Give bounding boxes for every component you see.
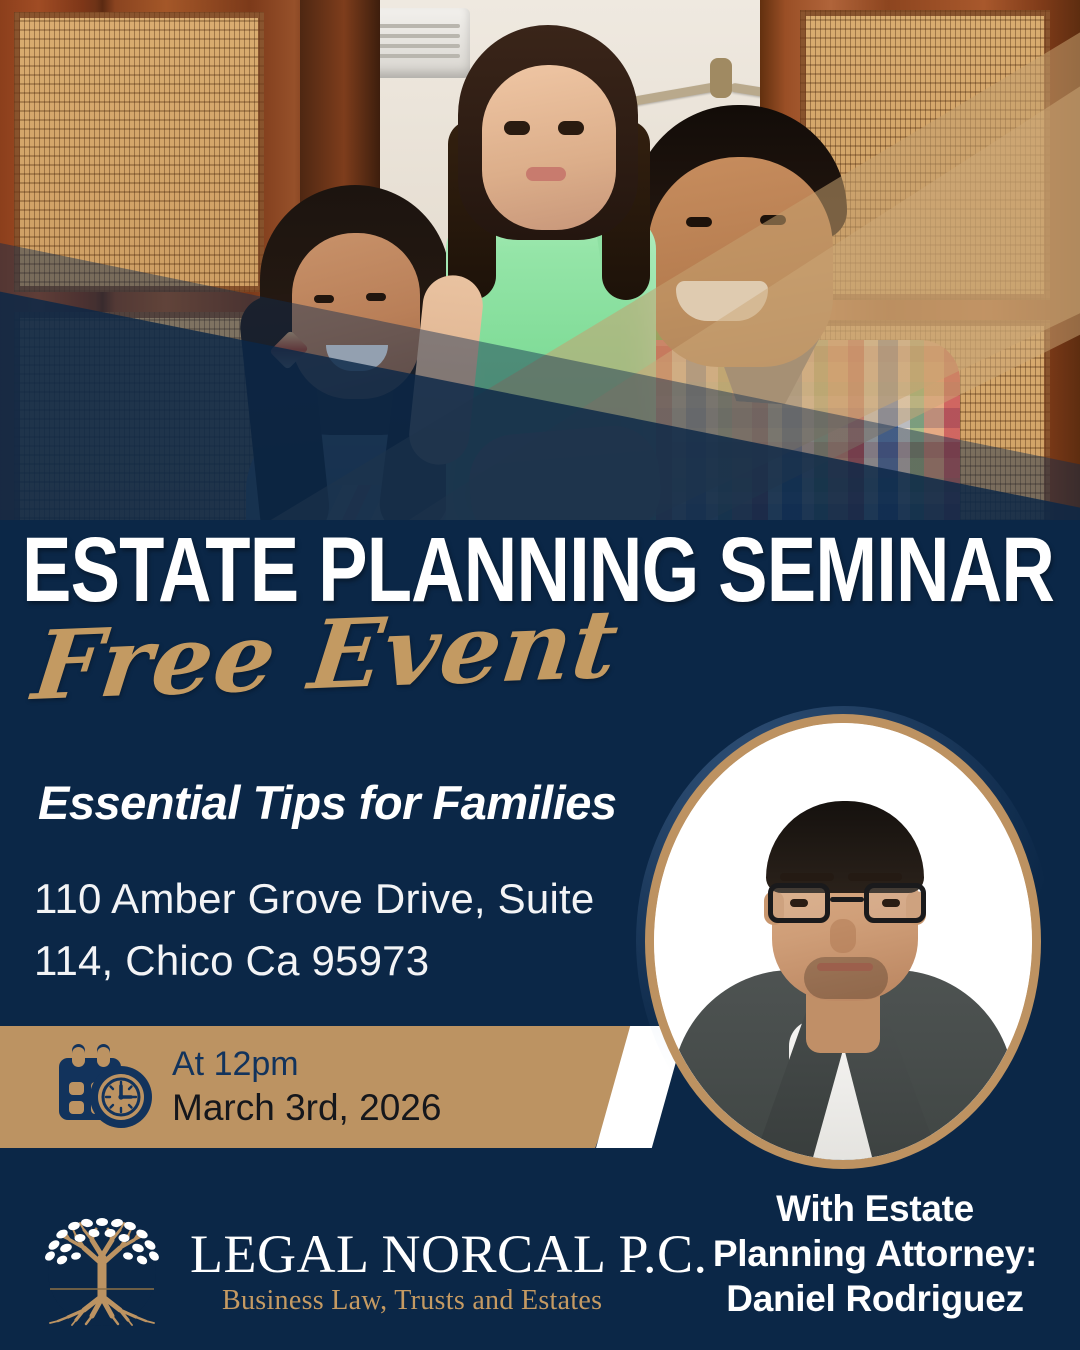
subtitle: Essential Tips for Families <box>38 775 617 831</box>
attorney-caption: With Estate Planning Attorney: Daniel Ro… <box>680 1186 1070 1321</box>
logo-tagline: Business Law, Trusts and Estates <box>222 1284 602 1318</box>
attorney-portrait <box>645 714 1041 1169</box>
attorney-caption-line-1: With Estate <box>680 1186 1070 1231</box>
event-date: March 3rd, 2026 <box>172 1086 441 1130</box>
girl-face <box>482 65 616 230</box>
company-logo: LEGAL NORCAL P.C. Business Law, Trusts a… <box>32 1218 652 1326</box>
venue-address: 110 Amber Grove Drive, Suite 114, Chico … <box>34 868 644 992</box>
free-event-script: Free Event <box>27 590 624 722</box>
hero-photo <box>0 0 1080 540</box>
event-time: At 12pm <box>172 1044 299 1084</box>
calendar-clock-icon <box>55 1044 155 1132</box>
rattan-panel-left-top <box>14 12 264 292</box>
tree-of-life-icon <box>32 1218 172 1326</box>
nose <box>830 919 856 953</box>
attorney-caption-line-2: Planning Attorney: <box>680 1231 1070 1276</box>
girl-lips <box>526 167 566 181</box>
mouth <box>817 963 873 971</box>
logo-company-name: LEGAL NORCAL P.C. <box>190 1224 708 1284</box>
attorney-caption-line-3: Daniel Rodriguez <box>680 1276 1070 1321</box>
flyer-canvas: ESTATE PLANNING SEMINAR Free Event Essen… <box>0 0 1080 1350</box>
